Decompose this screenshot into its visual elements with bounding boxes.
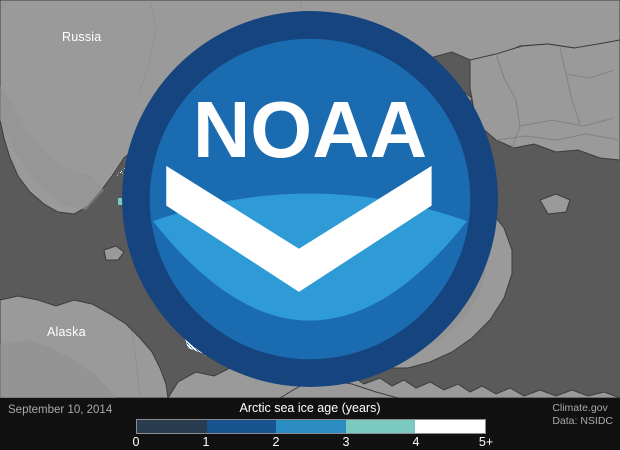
legend-swatch-4-5plus — [415, 420, 485, 433]
footer-bar: September 10, 2014 Arctic sea ice age (y… — [0, 398, 620, 450]
legend-tick-1: 1 — [203, 435, 210, 449]
legend-swatch-2-3 — [276, 420, 346, 433]
legend-title: Arctic sea ice age (years) — [136, 400, 484, 416]
legend-tick-2: 2 — [273, 435, 280, 449]
credit-block: Climate.gov Data: NSIDC — [552, 402, 613, 427]
legend-colorbar — [136, 419, 486, 434]
legend-tick-labels: 0 1 2 3 4 5+ — [136, 435, 486, 450]
arctic-sea-ice-age-figure: Russia Alaska Greenland NOAA September 1… — [0, 0, 620, 450]
legend-swatch-0-1 — [137, 420, 207, 433]
map-canvas[interactable]: Russia Alaska Greenland NOAA — [0, 0, 620, 398]
credit-source: Data: NSIDC — [552, 415, 613, 428]
noaa-logo-wordmark: NOAA — [193, 85, 427, 174]
legend-swatch-3-4 — [346, 420, 416, 433]
legend: Arctic sea ice age (years) 0 1 2 3 4 5+ — [136, 400, 484, 450]
legend-tick-0: 0 — [133, 435, 140, 449]
legend-tick-3: 3 — [343, 435, 350, 449]
legend-swatch-1-2 — [207, 420, 277, 433]
legend-tick-5plus: 5+ — [479, 435, 493, 449]
credit-publisher[interactable]: Climate.gov — [552, 402, 613, 415]
legend-tick-4: 4 — [413, 435, 420, 449]
noaa-logo[interactable]: NOAA — [0, 0, 620, 398]
date-label: September 10, 2014 — [8, 404, 112, 416]
